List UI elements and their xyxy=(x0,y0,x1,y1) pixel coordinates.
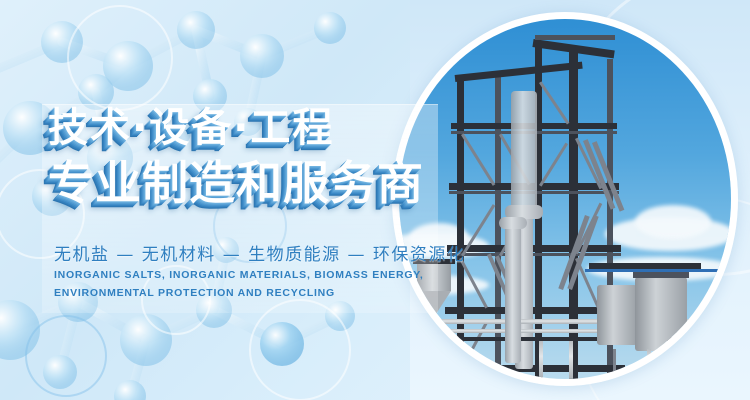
industrial-plant-photo xyxy=(392,12,738,386)
headline-block: 技术·设备·工程 专业制造和服务商 xyxy=(48,108,424,206)
subtitle-chinese: 无机盐 — 无机材料 — 生物质能源 — 环保资源化 xyxy=(54,240,465,265)
headline-line-2: 专业制造和服务商 xyxy=(48,160,424,206)
subtitle-english: INORGANIC SALTS, INORGANIC MATERIALS, BI… xyxy=(54,266,446,302)
plant-equipment xyxy=(399,249,731,379)
promo-banner: 技术·设备·工程 专业制造和服务商 无机盐 — 无机材料 — 生物质能源 — 环… xyxy=(0,0,750,400)
headline-line-1: 技术·设备·工程 xyxy=(48,108,424,148)
photo-content xyxy=(399,19,731,379)
